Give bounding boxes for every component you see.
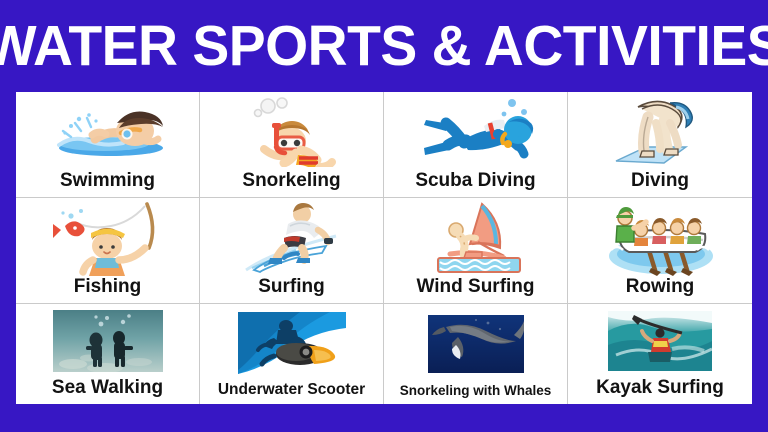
grid-cell-diving[interactable]: Diving [568,92,752,198]
grid-cell-kayak-surfing[interactable]: Kayak Surfing [568,304,752,404]
activities-grid: Swimming [16,92,752,404]
cell-label: Scuba Diving [415,171,535,195]
cell-label: Kayak Surfing [596,378,724,402]
cell-label: Wind Surfing [416,277,534,301]
kayak-surfing-photo [570,304,750,378]
grid-cell-swimming[interactable]: Swimming [16,92,200,198]
rowing-boat-crew-icon [570,198,750,277]
title-bar: WATER SPORTS & ACTIVITIES [0,0,768,92]
sea-walking-photo [18,304,197,378]
underwater-scooter-photo [202,304,381,382]
springboard-diver-icon [570,92,750,171]
cell-label: Diving [631,171,689,195]
snorkeler-child-icon [202,92,381,171]
grid-cell-wind-surfing[interactable]: Wind Surfing [384,198,568,304]
snorkeling-with-whales-photo [386,304,565,384]
grid-cell-fishing[interactable]: Fishing [16,198,200,304]
cell-label: Snorkeling with Whales [400,384,552,402]
grid-cell-snorkeling[interactable]: Snorkeling [200,92,384,198]
grid-cell-surfing[interactable]: Surfing [200,198,384,304]
cell-label: Swimming [60,171,155,195]
grid-cell-rowing[interactable]: Rowing [568,198,752,304]
surfer-board-icon [202,198,381,277]
grid-cell-scuba-diving[interactable]: Scuba Diving [384,92,568,198]
cell-label: Rowing [626,277,695,301]
cell-label: Underwater Scooter [218,382,365,402]
page-title: WATER SPORTS & ACTIVITIES [0,18,768,75]
scuba-diver-icon [386,92,565,171]
cell-label: Surfing [258,277,325,301]
fishing-rod-boy-icon [18,198,197,277]
poster-root: WATER SPORTS & ACTIVITIES [0,0,768,432]
swimmer-freestyle-icon [18,92,197,171]
grid-cell-underwater-scooter[interactable]: Underwater Scooter [200,304,384,404]
cell-label: Sea Walking [52,378,163,402]
windsurfer-sail-icon [386,198,565,277]
grid-cell-snorkeling-with-whales[interactable]: Snorkeling with Whales [384,304,568,404]
grid-cell-sea-walking[interactable]: Sea Walking [16,304,200,404]
cell-label: Fishing [74,277,142,301]
cell-label: Snorkeling [242,171,340,195]
